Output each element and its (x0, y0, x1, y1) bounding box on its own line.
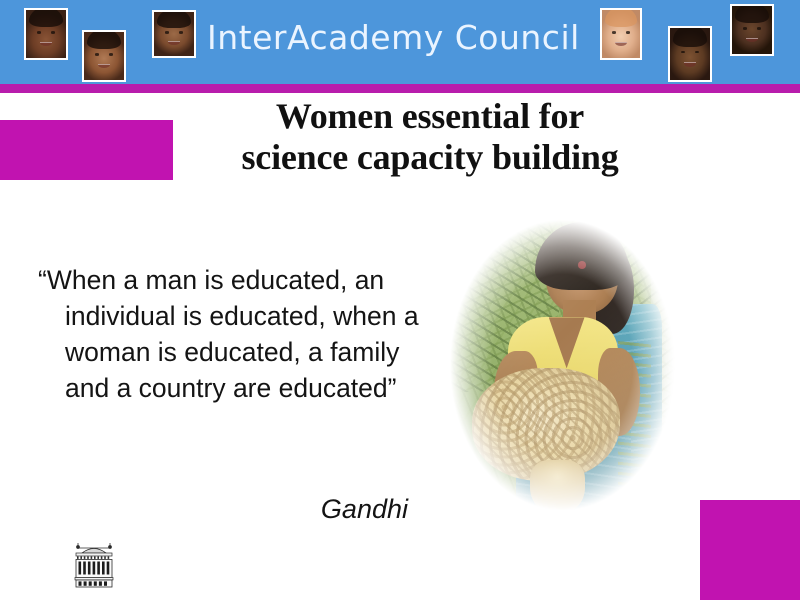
magenta-accent-block-left (0, 120, 173, 180)
header-photo-portrait-man-light-shirt (152, 10, 196, 58)
eye-left (612, 31, 616, 33)
header-banner: InterAcademy Council (0, 0, 800, 84)
header-photo-portrait-woman-dark-sky (730, 4, 774, 56)
header-photo-portrait-woman-fair-hair (600, 8, 642, 60)
header-photo-portrait-man-smiling (24, 8, 68, 60)
slide-title: Women essential for science capacity bui… (190, 96, 670, 178)
quote-attribution: Gandhi (38, 494, 408, 525)
hair-shape (157, 12, 191, 28)
photo-highlight-overlay (425, 195, 700, 535)
eye-left (165, 31, 169, 33)
slide-title-line-1: Women essential for (190, 96, 670, 137)
building-icon (70, 537, 118, 589)
hair-shape (605, 10, 637, 27)
woman-farmer-photo (425, 195, 700, 535)
organization-title: InterAcademy Council (207, 18, 580, 57)
header-photo-portrait-young-man (668, 26, 712, 82)
eye-left (37, 31, 41, 33)
magenta-accent-block-bottom-right (700, 500, 800, 600)
hair-shape (735, 6, 769, 23)
eye-right (51, 31, 55, 33)
quote-text: “When a man is educated, an individual i… (38, 262, 445, 406)
hair-shape (29, 10, 63, 27)
header-magenta-stripe (0, 84, 800, 93)
eye-right (179, 31, 183, 33)
eye-left (743, 27, 747, 29)
academy-building-logo (70, 537, 118, 589)
eye-right (626, 31, 630, 33)
eye-left (95, 53, 99, 55)
slide-title-line-2: science capacity building (190, 137, 670, 178)
hair-shape (87, 32, 121, 49)
header-photo-portrait-woman-headscarf (82, 30, 126, 82)
hair-shape (673, 28, 707, 47)
eye-right (109, 53, 113, 55)
photo-scene (425, 195, 700, 535)
eye-right (757, 27, 761, 29)
